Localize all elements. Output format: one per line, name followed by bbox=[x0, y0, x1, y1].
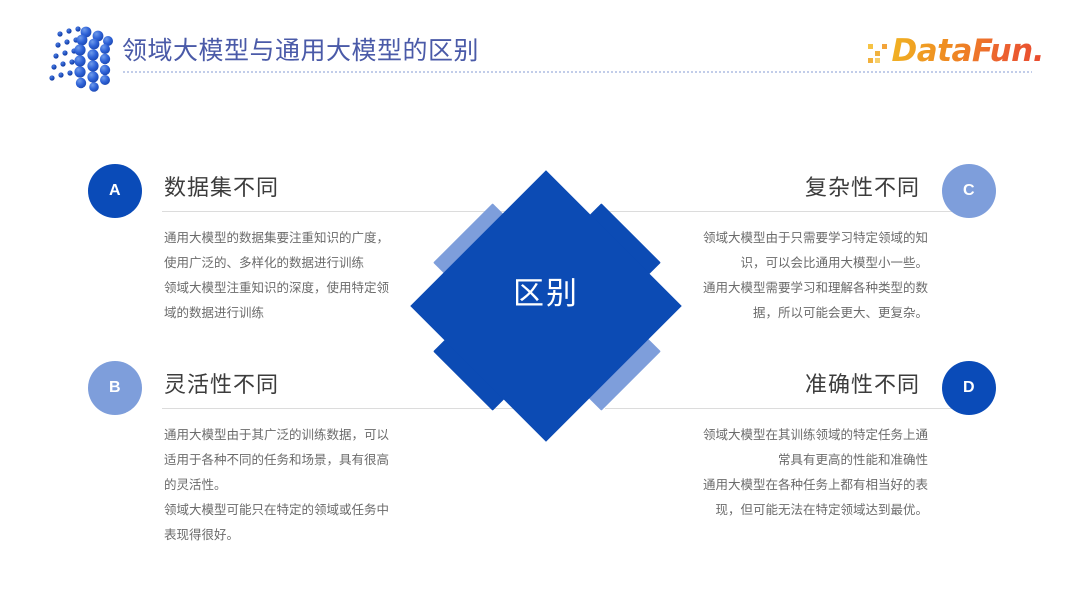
quadrant-c-paragraph-2: 通用大模型需要学习和理解各种类型的数据，所以可能会更大、更复杂。 bbox=[698, 276, 928, 326]
quadrant-c-paragraph-1: 领域大模型由于只需要学习特定领域的知识，可以会比通用大模型小一些。 bbox=[698, 226, 928, 276]
datafun-brand-logo: DataFun. bbox=[868, 34, 1044, 68]
quadrant-b-paragraph-2: 领域大模型可能只在特定的领域或任务中表现得很好。 bbox=[164, 498, 394, 548]
badge-c: C bbox=[942, 164, 996, 218]
quadrant-c-title: 复杂性不同 bbox=[805, 170, 920, 202]
badge-d: D bbox=[942, 361, 996, 415]
quadrant-b-title: 灵活性不同 bbox=[164, 367, 279, 399]
quadrant-d-title: 准确性不同 bbox=[805, 367, 920, 399]
quadrant-a-body: 通用大模型的数据集要注重知识的广度，使用广泛的、多样化的数据进行训练 领域大模型… bbox=[164, 226, 394, 326]
quadrant-d-paragraph-2: 通用大模型在各种任务上都有相当好的表现，但可能无法在特定领域达到最优。 bbox=[698, 473, 928, 523]
quadrant-b-paragraph-1: 通用大模型由于其广泛的训练数据，可以适用于各种不同的任务和场景，具有很高的灵活性… bbox=[164, 423, 394, 498]
diamond-label: 区别 bbox=[406, 268, 686, 313]
page-title: 领域大模型与通用大模型的区别 bbox=[122, 31, 479, 67]
badge-b: B bbox=[88, 361, 142, 415]
quadrant-b-body: 通用大模型由于其广泛的训练数据，可以适用于各种不同的任务和场景，具有很高的灵活性… bbox=[164, 423, 394, 548]
pixel-dots-icon bbox=[868, 44, 887, 63]
quadrant-c-body: 领域大模型由于只需要学习特定领域的知识，可以会比通用大模型小一些。 通用大模型需… bbox=[698, 226, 928, 326]
quadrant-a-paragraph-1: 通用大模型的数据集要注重知识的广度，使用广泛的、多样化的数据进行训练 bbox=[164, 226, 394, 276]
quadrant-a-title: 数据集不同 bbox=[164, 170, 279, 202]
quadrant-d-body: 领域大模型在其训练领域的特定任务上通常具有更高的性能和准确性 通用大模型在各种任… bbox=[698, 423, 928, 523]
badge-a: A bbox=[88, 164, 142, 218]
datafun-wordmark: DataFun. bbox=[891, 33, 1044, 69]
center-diamond-graphic: 区别 bbox=[406, 166, 686, 446]
slide-canvas: 领域大模型与通用大模型的区别 DataFun. 区别 A 数据集不同 通用大模型… bbox=[0, 0, 1080, 608]
slide-header: 领域大模型与通用大模型的区别 DataFun. bbox=[0, 0, 1080, 100]
sphere-cube-logo-icon bbox=[38, 16, 116, 94]
quadrant-a-paragraph-2: 领域大模型注重知识的深度，使用特定领域的数据进行训练 bbox=[164, 276, 394, 326]
header-divider bbox=[122, 71, 1032, 73]
quadrant-d-paragraph-1: 领域大模型在其训练领域的特定任务上通常具有更高的性能和准确性 bbox=[698, 423, 928, 473]
